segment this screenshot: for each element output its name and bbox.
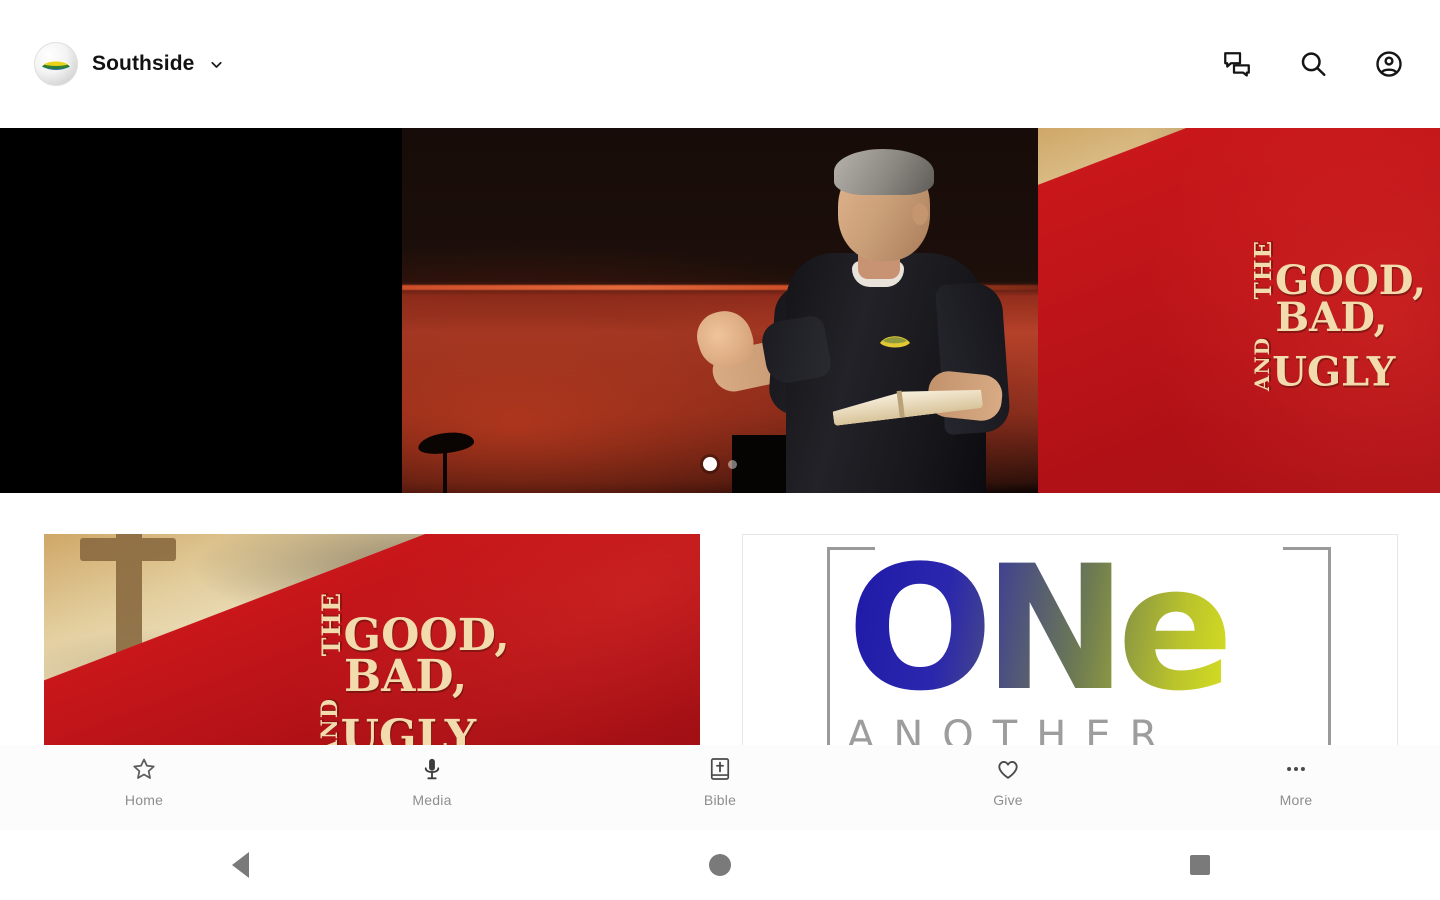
android-system-nav-bar <box>0 830 1440 900</box>
account-circle-icon <box>1374 49 1404 79</box>
card-title: THEGOOD, BAD, ANDUGLY <box>320 592 510 746</box>
tab-more-label: More <box>1280 792 1313 808</box>
tab-bible[interactable]: Bible <box>576 756 864 808</box>
card-title-bad: BAD, <box>344 656 510 697</box>
card-title-ugly: UGLY <box>341 711 476 746</box>
artwork-title: THEGOOD, BAD, ANDUGLY <box>1253 240 1426 391</box>
hero-slide-black[interactable] <box>0 128 402 493</box>
top-app-bar: Southside <box>0 0 1440 128</box>
hero-carousel[interactable]: THEGOOD, BAD, ANDUGLY <box>0 128 1440 493</box>
tab-media[interactable]: Media <box>288 756 576 808</box>
speaker-figure <box>702 148 1038 493</box>
chevron-down-icon[interactable] <box>208 56 225 73</box>
tab-more[interactable]: More <box>1152 756 1440 808</box>
bible-book-icon <box>707 756 733 782</box>
hero-track: THEGOOD, BAD, ANDUGLY <box>0 128 1440 493</box>
church-switcher[interactable]: Southside <box>34 42 225 86</box>
word-one: ONe <box>847 541 1317 717</box>
artwork-title-bad: BAD, <box>1275 299 1426 337</box>
system-back-button[interactable] <box>0 852 480 878</box>
app-root: Southside <box>0 0 1440 900</box>
card-title-and: AND <box>320 698 341 746</box>
card-title-the: THE <box>320 592 344 656</box>
carousel-dots <box>0 457 1440 471</box>
tab-give-label: Give <box>993 792 1023 808</box>
tab-home[interactable]: Home <box>0 756 288 808</box>
tab-home-label: Home <box>125 792 163 808</box>
word-another: ANOTHER <box>847 713 1317 746</box>
system-recents-button[interactable] <box>960 855 1440 875</box>
microphone-icon <box>419 756 445 782</box>
back-triangle-icon <box>232 852 249 878</box>
one-another-card[interactable]: ONe ANOTHER <box>742 534 1398 746</box>
church-name: Southside <box>92 52 194 76</box>
carousel-dot-2[interactable] <box>728 460 737 469</box>
star-icon <box>131 756 157 782</box>
one-another-artwork: ONe ANOTHER <box>743 535 1397 746</box>
artwork-title-the: THE <box>1253 240 1275 299</box>
ellipsis-icon <box>1283 756 1309 782</box>
tab-bible-label: Bible <box>704 792 736 808</box>
account-button[interactable] <box>1372 47 1406 81</box>
system-home-button[interactable] <box>480 854 960 876</box>
home-circle-icon <box>709 854 731 876</box>
tab-media-label: Media <box>412 792 451 808</box>
content-card-row: THEGOOD, BAD, ANDUGLY ONe ANOTHER <box>0 493 1440 745</box>
hero-slide-artwork[interactable]: THEGOOD, BAD, ANDUGLY <box>1038 128 1440 493</box>
carousel-dot-1[interactable] <box>703 457 717 471</box>
search-icon <box>1298 49 1328 79</box>
church-logo-icon <box>34 42 78 86</box>
artwork-title-ugly: UGLY <box>1272 349 1395 396</box>
chat-bubbles-icon <box>1222 49 1252 79</box>
recents-square-icon <box>1190 855 1210 875</box>
tab-give[interactable]: Give <box>864 756 1152 808</box>
messages-button[interactable] <box>1220 47 1254 81</box>
artwork-title-and: AND <box>1253 337 1272 391</box>
shirt-logo-icon <box>878 327 912 353</box>
bottom-tab-bar: Home Media Bible <box>0 745 1440 830</box>
good-bad-ugly-card[interactable]: THEGOOD, BAD, ANDUGLY <box>44 534 700 746</box>
hero-slide-video[interactable] <box>402 128 1038 493</box>
heart-icon <box>995 756 1021 782</box>
search-button[interactable] <box>1296 47 1330 81</box>
appbar-actions <box>1220 47 1406 81</box>
church-logo-mark <box>39 56 73 73</box>
